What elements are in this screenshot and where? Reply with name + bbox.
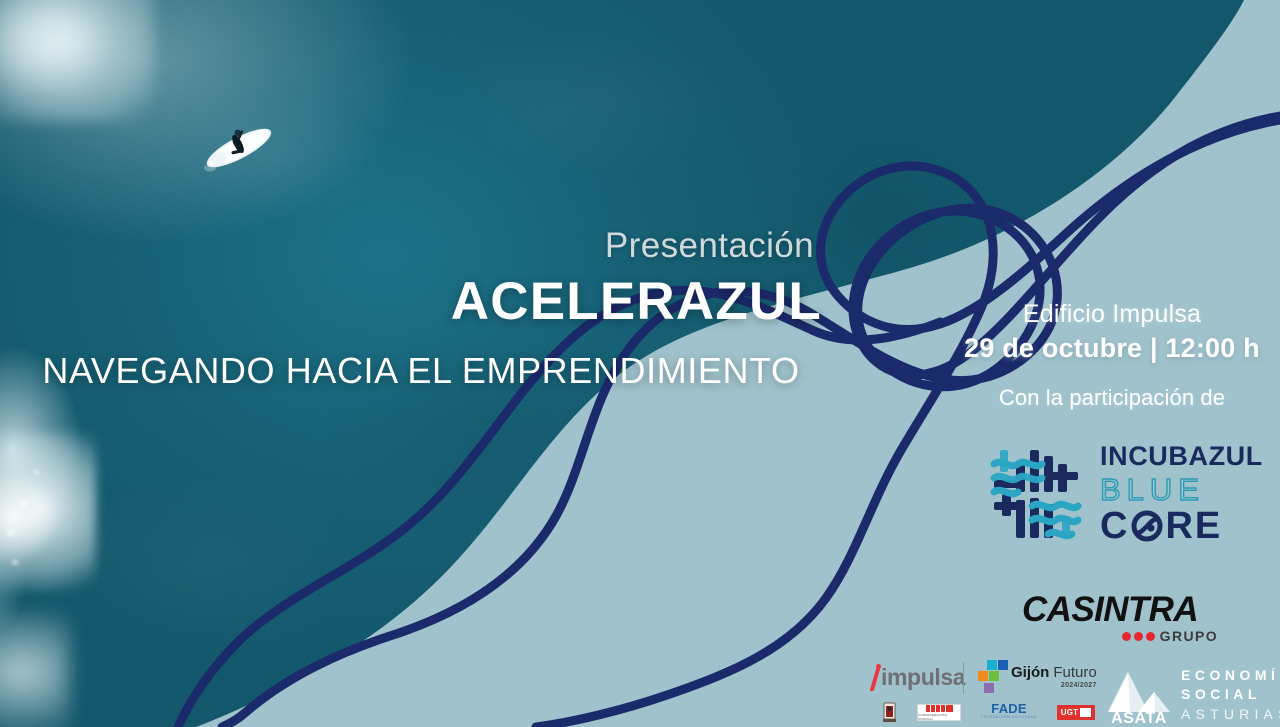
mini-logo-row: CONFEDERACIÓN SINDICAL FADE FEDERACIÓN A… [882,702,1095,723]
event-title: ACELERAZUL [0,271,822,332]
economia-social-asturias-words: ECONOMÍA SOCIAL ASTURIAS [1181,666,1280,726]
event-poster: Presentación ACELERAZUL NAVEGANDO HACIA … [0,0,1280,727]
event-details-block: Edificio Impulsa 29 de octubre | 12:00 h… [936,300,1280,411]
economia-line: ECONOMÍA [1181,666,1280,685]
gijon-word: Gijón [1011,665,1049,680]
asata-mountain-icon: ASATA [1104,668,1174,726]
gijon-futuro-logo: Gijón Futuro 2024/2027 [978,660,1097,694]
incubazul-bluecore-logo: INCUBAZUL BLUE C RE [986,438,1248,550]
asata-word: ASATA [1104,710,1174,727]
impulsa-word: impulsa [881,666,965,689]
fade-logo-icon: FADE FEDERACIÓN ASTURIANA [981,702,1037,723]
incubazul-grid-waves-icon [986,444,1086,544]
venue-text: Edificio Impulsa [936,300,1280,329]
ugt-logo-icon: UGT [1057,705,1095,720]
event-subtitle: NAVEGANDO HACIA EL EMPRENDIMIENTO [18,350,824,392]
kicker-text: Presentación [0,226,814,266]
datetime-text: 29 de octubre | 12:00 h [936,333,1280,364]
blue-word: BLUE [1100,474,1263,505]
core-o-icon [1130,509,1164,543]
ccoo-logo-icon: CONFEDERACIÓN SINDICAL [917,704,961,721]
casintra-logo: CASINTRA GRUPO [1022,592,1218,644]
asata-economia-social-logo: ASATA ECONOMÍA SOCIAL ASTURIAS [1104,666,1280,726]
incubazul-word: INCUBAZUL [1100,443,1263,470]
core-suffix: RE [1165,507,1222,545]
casintra-word: CASINTRA [1022,592,1218,627]
participation-label: Con la participación de [936,385,1280,411]
partner-logo-strip: impulsa Gijón Futuro 2024/2027 [856,660,1280,727]
casintra-grupo-word: GRUPO [1160,628,1218,644]
casintra-dots-icon [1122,632,1155,641]
futuro-word: Futuro [1053,665,1096,680]
ayuntamiento-gijon-crest-icon [882,702,897,723]
casintra-subline: GRUPO [1022,628,1218,644]
asturias-line: ASTURIAS [1181,705,1280,724]
core-word: C RE [1100,507,1263,545]
social-line: SOCIAL [1181,685,1280,704]
gijon-years: 2024/2027 [1061,682,1097,689]
gijon-pixel-squares-icon [978,660,1004,694]
impulsa-logo: impulsa [868,664,965,691]
core-prefix: C [1100,507,1129,545]
impulsa-slash-icon [868,664,881,691]
strip-divider [963,662,964,694]
incubazul-wordmark: INCUBAZUL BLUE C RE [1100,443,1263,545]
gijon-futuro-wordmark: Gijón Futuro 2024/2027 [1011,665,1097,689]
